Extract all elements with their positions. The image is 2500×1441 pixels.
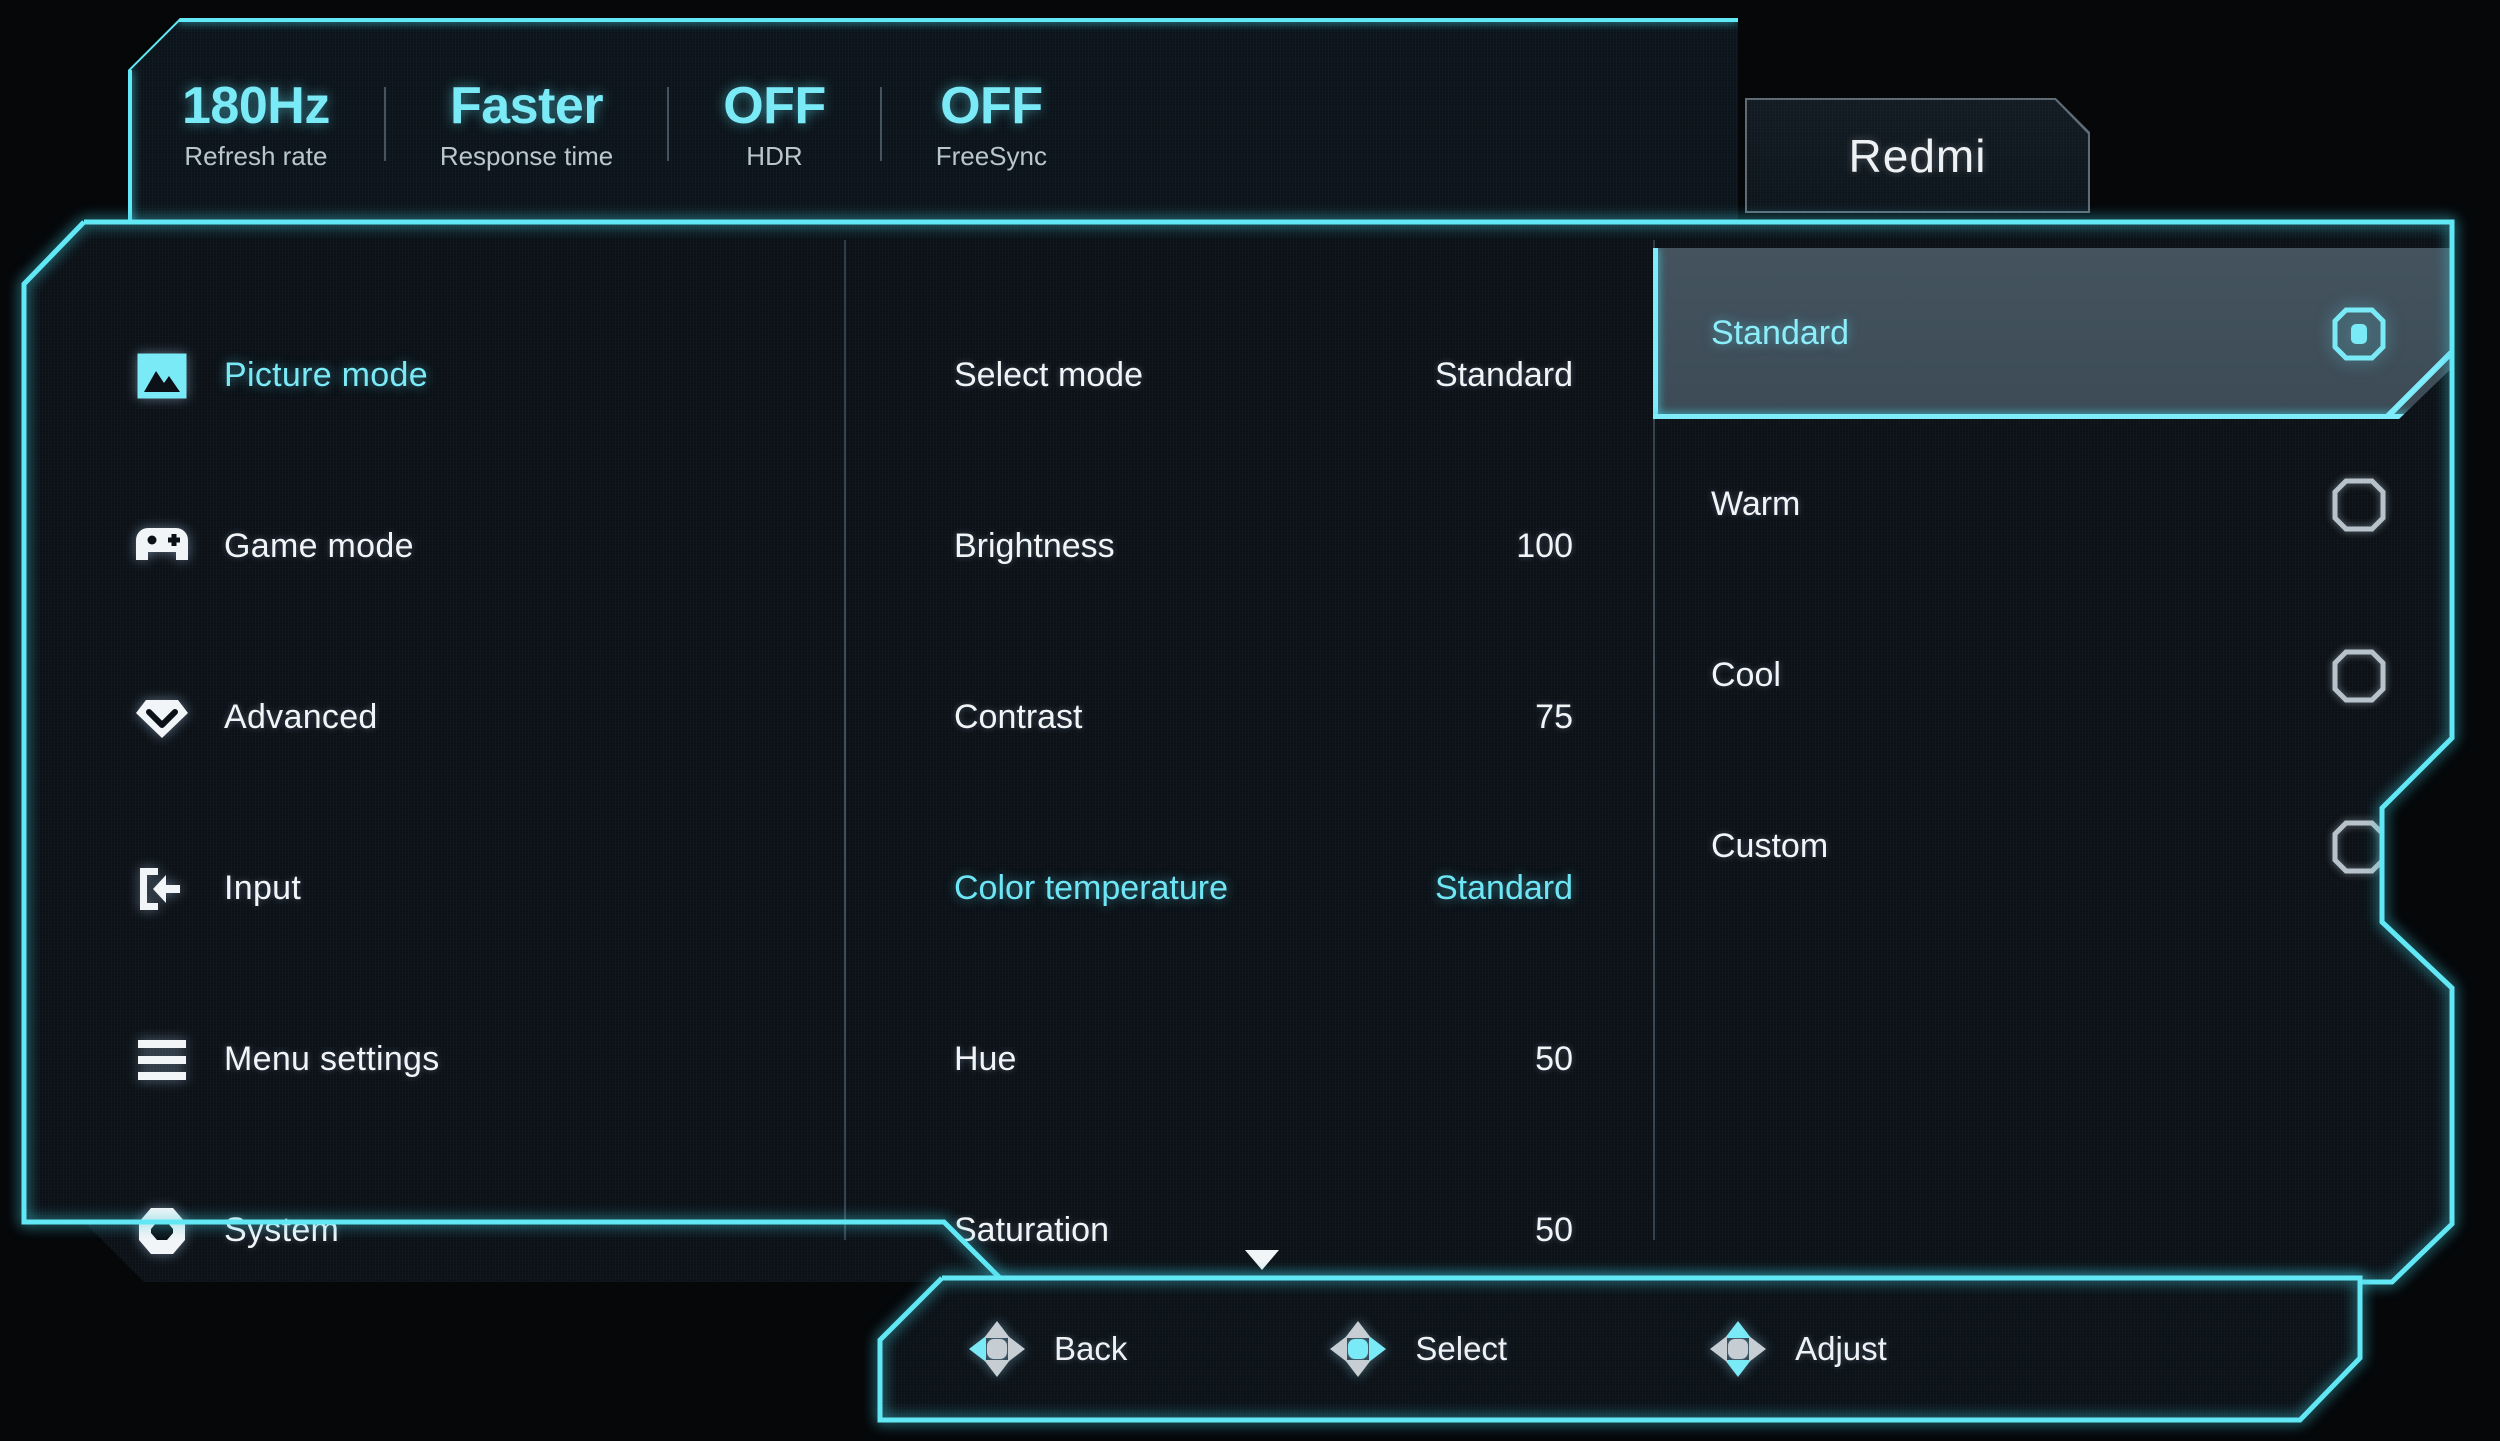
- option-label: Warm: [1711, 485, 1800, 524]
- diamond-chevron-icon: [136, 692, 188, 744]
- option-highlight-chamfer: [2385, 347, 2457, 419]
- status-stat-freesync: OFF FreeSync: [882, 79, 1101, 170]
- option-label: Cool: [1711, 656, 1781, 695]
- setting-value: 75: [1535, 698, 1573, 737]
- sidebar-menu: Picture mode Game mode Advanced Input Me…: [24, 222, 844, 1282]
- option-row-custom[interactable]: Custom: [1653, 761, 2452, 932]
- status-label-response-time: Response time: [440, 143, 613, 169]
- setting-label: Brightness: [954, 527, 1115, 566]
- setting-row-contrast[interactable]: Contrast 75: [844, 632, 1653, 803]
- status-label-freesync: FreeSync: [936, 143, 1047, 169]
- sidebar-item-label: Game mode: [224, 527, 414, 566]
- status-value-refresh-rate: 180Hz: [182, 79, 330, 134]
- footer-action-select[interactable]: Select: [1327, 1318, 1507, 1380]
- status-value-freesync: OFF: [936, 79, 1047, 134]
- sidebar-item-label: Picture mode: [224, 356, 428, 395]
- sidebar-item-advanced[interactable]: Advanced: [24, 632, 844, 803]
- setting-label: Hue: [954, 1040, 1016, 1079]
- sidebar-item-picture-mode[interactable]: Picture mode: [24, 290, 844, 461]
- joystick-left-icon: [966, 1318, 1028, 1380]
- sidebar-item-input[interactable]: Input: [24, 803, 844, 974]
- sidebar-item-label: Menu settings: [224, 1040, 440, 1079]
- setting-row-hue[interactable]: Hue 50: [844, 974, 1653, 1145]
- footer-action-adjust[interactable]: Adjust: [1707, 1318, 1887, 1380]
- setting-label: Contrast: [954, 698, 1083, 737]
- footer-action-label: Select: [1415, 1330, 1507, 1368]
- joystick-right-icon: [1327, 1318, 1389, 1380]
- status-label-hdr: HDR: [723, 143, 825, 169]
- options-column: Standard Warm Cool Custom: [1653, 222, 2452, 1282]
- brand-name: Redmi: [1849, 129, 1987, 183]
- settings-column: Select mode StandardBrightness 100Contra…: [844, 222, 1653, 1282]
- setting-value: 50: [1535, 1211, 1573, 1250]
- setting-value: 50: [1535, 1040, 1573, 1079]
- status-stat-refresh-rate: 180Hz Refresh rate: [128, 79, 384, 170]
- joystick-up-down-icon: [1707, 1318, 1769, 1380]
- setting-label: Saturation: [954, 1211, 1109, 1250]
- footer-action-back[interactable]: Back: [966, 1318, 1127, 1380]
- sidebar-item-menu-settings[interactable]: Menu settings: [24, 974, 844, 1145]
- setting-row-color-temperature[interactable]: Color temperature Standard: [844, 803, 1653, 974]
- option-label: Standard: [1711, 314, 1849, 353]
- status-header-panel: 180Hz Refresh rateFaster Response timeOF…: [128, 18, 1738, 230]
- setting-value: Standard: [1435, 869, 1573, 908]
- option-row-warm[interactable]: Warm: [1653, 419, 2452, 590]
- gamepad-icon: [136, 521, 188, 573]
- setting-label: Color temperature: [954, 869, 1228, 908]
- sidebar-item-game-mode[interactable]: Game mode: [24, 461, 844, 632]
- footer-actions: Back Select Adjust: [880, 1278, 2360, 1420]
- setting-value: 100: [1516, 527, 1573, 566]
- option-label: Custom: [1711, 827, 1828, 866]
- status-stat-response-time: Faster Response time: [386, 79, 667, 170]
- status-value-hdr: OFF: [723, 79, 825, 134]
- sidebar-item-label: Advanced: [224, 698, 378, 737]
- status-value-response-time: Faster: [440, 79, 613, 134]
- radio-unselected-icon[interactable]: [2332, 820, 2386, 874]
- input-arrow-icon: [136, 863, 188, 915]
- status-label-refresh-rate: Refresh rate: [182, 143, 330, 169]
- hamburger-icon: [136, 1034, 188, 1086]
- sidebar-item-label: Input: [224, 869, 301, 908]
- setting-row-select-mode[interactable]: Select mode Standard: [844, 290, 1653, 461]
- footer-action-label: Back: [1054, 1330, 1127, 1368]
- setting-label: Select mode: [954, 356, 1143, 395]
- option-row-cool[interactable]: Cool: [1653, 590, 2452, 761]
- status-summary: 180Hz Refresh rateFaster Response timeOF…: [128, 18, 1738, 230]
- status-stat-hdr: OFF HDR: [669, 79, 879, 170]
- gear-hex-icon: [136, 1205, 188, 1257]
- sidebar-item-system[interactable]: System: [24, 1145, 844, 1316]
- setting-value: Standard: [1435, 356, 1573, 395]
- footer-action-label: Adjust: [1795, 1330, 1887, 1368]
- setting-row-brightness[interactable]: Brightness 100: [844, 461, 1653, 632]
- scroll-down-indicator[interactable]: [1245, 1250, 1279, 1270]
- brand-tab: Redmi: [1745, 98, 2090, 213]
- radio-unselected-icon[interactable]: [2332, 649, 2386, 703]
- picture-icon: [136, 350, 188, 402]
- radio-unselected-icon[interactable]: [2332, 478, 2386, 532]
- footer-hint-bar: Back Select Adjust: [880, 1278, 2360, 1420]
- option-row-standard[interactable]: Standard: [1653, 248, 2452, 419]
- radio-selected-icon[interactable]: [2332, 307, 2386, 361]
- osd-main-panel: Picture mode Game mode Advanced Input Me…: [24, 222, 2452, 1282]
- sidebar-item-label: System: [224, 1211, 339, 1250]
